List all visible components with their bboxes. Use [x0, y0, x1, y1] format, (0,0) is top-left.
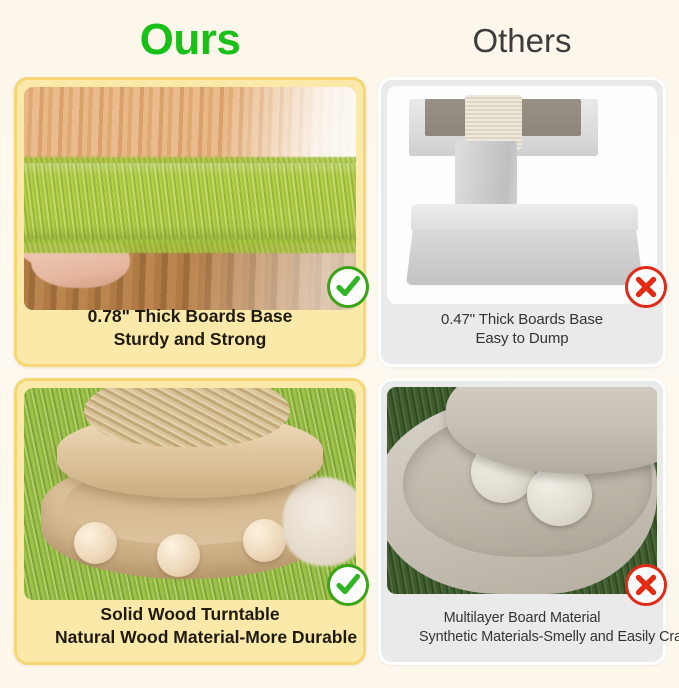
ours-card-turntable: Solid Wood Turntable Natural Wood Materi… — [14, 378, 366, 665]
caption-line-2: Sturdy and Strong — [55, 328, 325, 350]
caption-line-1: 0.78" Thick Boards Base — [55, 305, 325, 327]
others-card-turntable: Multilayer Board Material Synthetic Mate… — [378, 378, 666, 665]
check-badge-icon — [327, 564, 369, 606]
caption-line-1: Multilayer Board Material — [419, 609, 625, 627]
comparison-infographic: Ours Others 0.78" Thick Boards Base Stur… — [0, 0, 679, 688]
check-badge-icon — [327, 266, 369, 308]
others-photo-particleboard-turntable — [387, 387, 657, 594]
caption-line-2: Easy to Dump — [419, 329, 625, 348]
ours-photo-thick-board — [24, 87, 356, 310]
others-card-thickness: 0.47" Thick Boards Base Easy to Dump — [378, 77, 666, 367]
caption-line-1: 0.47" Thick Boards Base — [419, 310, 625, 329]
header-ours: Ours — [14, 18, 366, 62]
caption-line-1: Solid Wood Turntable — [55, 603, 325, 625]
column-headers: Ours Others — [0, 14, 679, 72]
caption-line-2: Synthetic Materials-Smelly and Easily Cr… — [419, 628, 625, 646]
others-caption-turntable: Multilayer Board Material Synthetic Mate… — [381, 609, 663, 646]
ours-photo-wood-turntable — [24, 388, 356, 600]
ours-card-thickness: 0.78" Thick Boards Base Sturdy and Stron… — [14, 77, 366, 367]
ours-caption-thickness: 0.78" Thick Boards Base Sturdy and Stron… — [17, 305, 363, 350]
cross-badge-icon — [625, 266, 667, 308]
others-caption-thickness: 0.47" Thick Boards Base Easy to Dump — [381, 310, 663, 348]
header-others: Others — [378, 24, 666, 57]
cross-badge-icon — [625, 564, 667, 606]
caption-line-2: Natural Wood Material-More Durable — [55, 626, 325, 648]
ours-caption-turntable: Solid Wood Turntable Natural Wood Materi… — [17, 603, 363, 648]
others-photo-thin-base — [387, 86, 657, 304]
